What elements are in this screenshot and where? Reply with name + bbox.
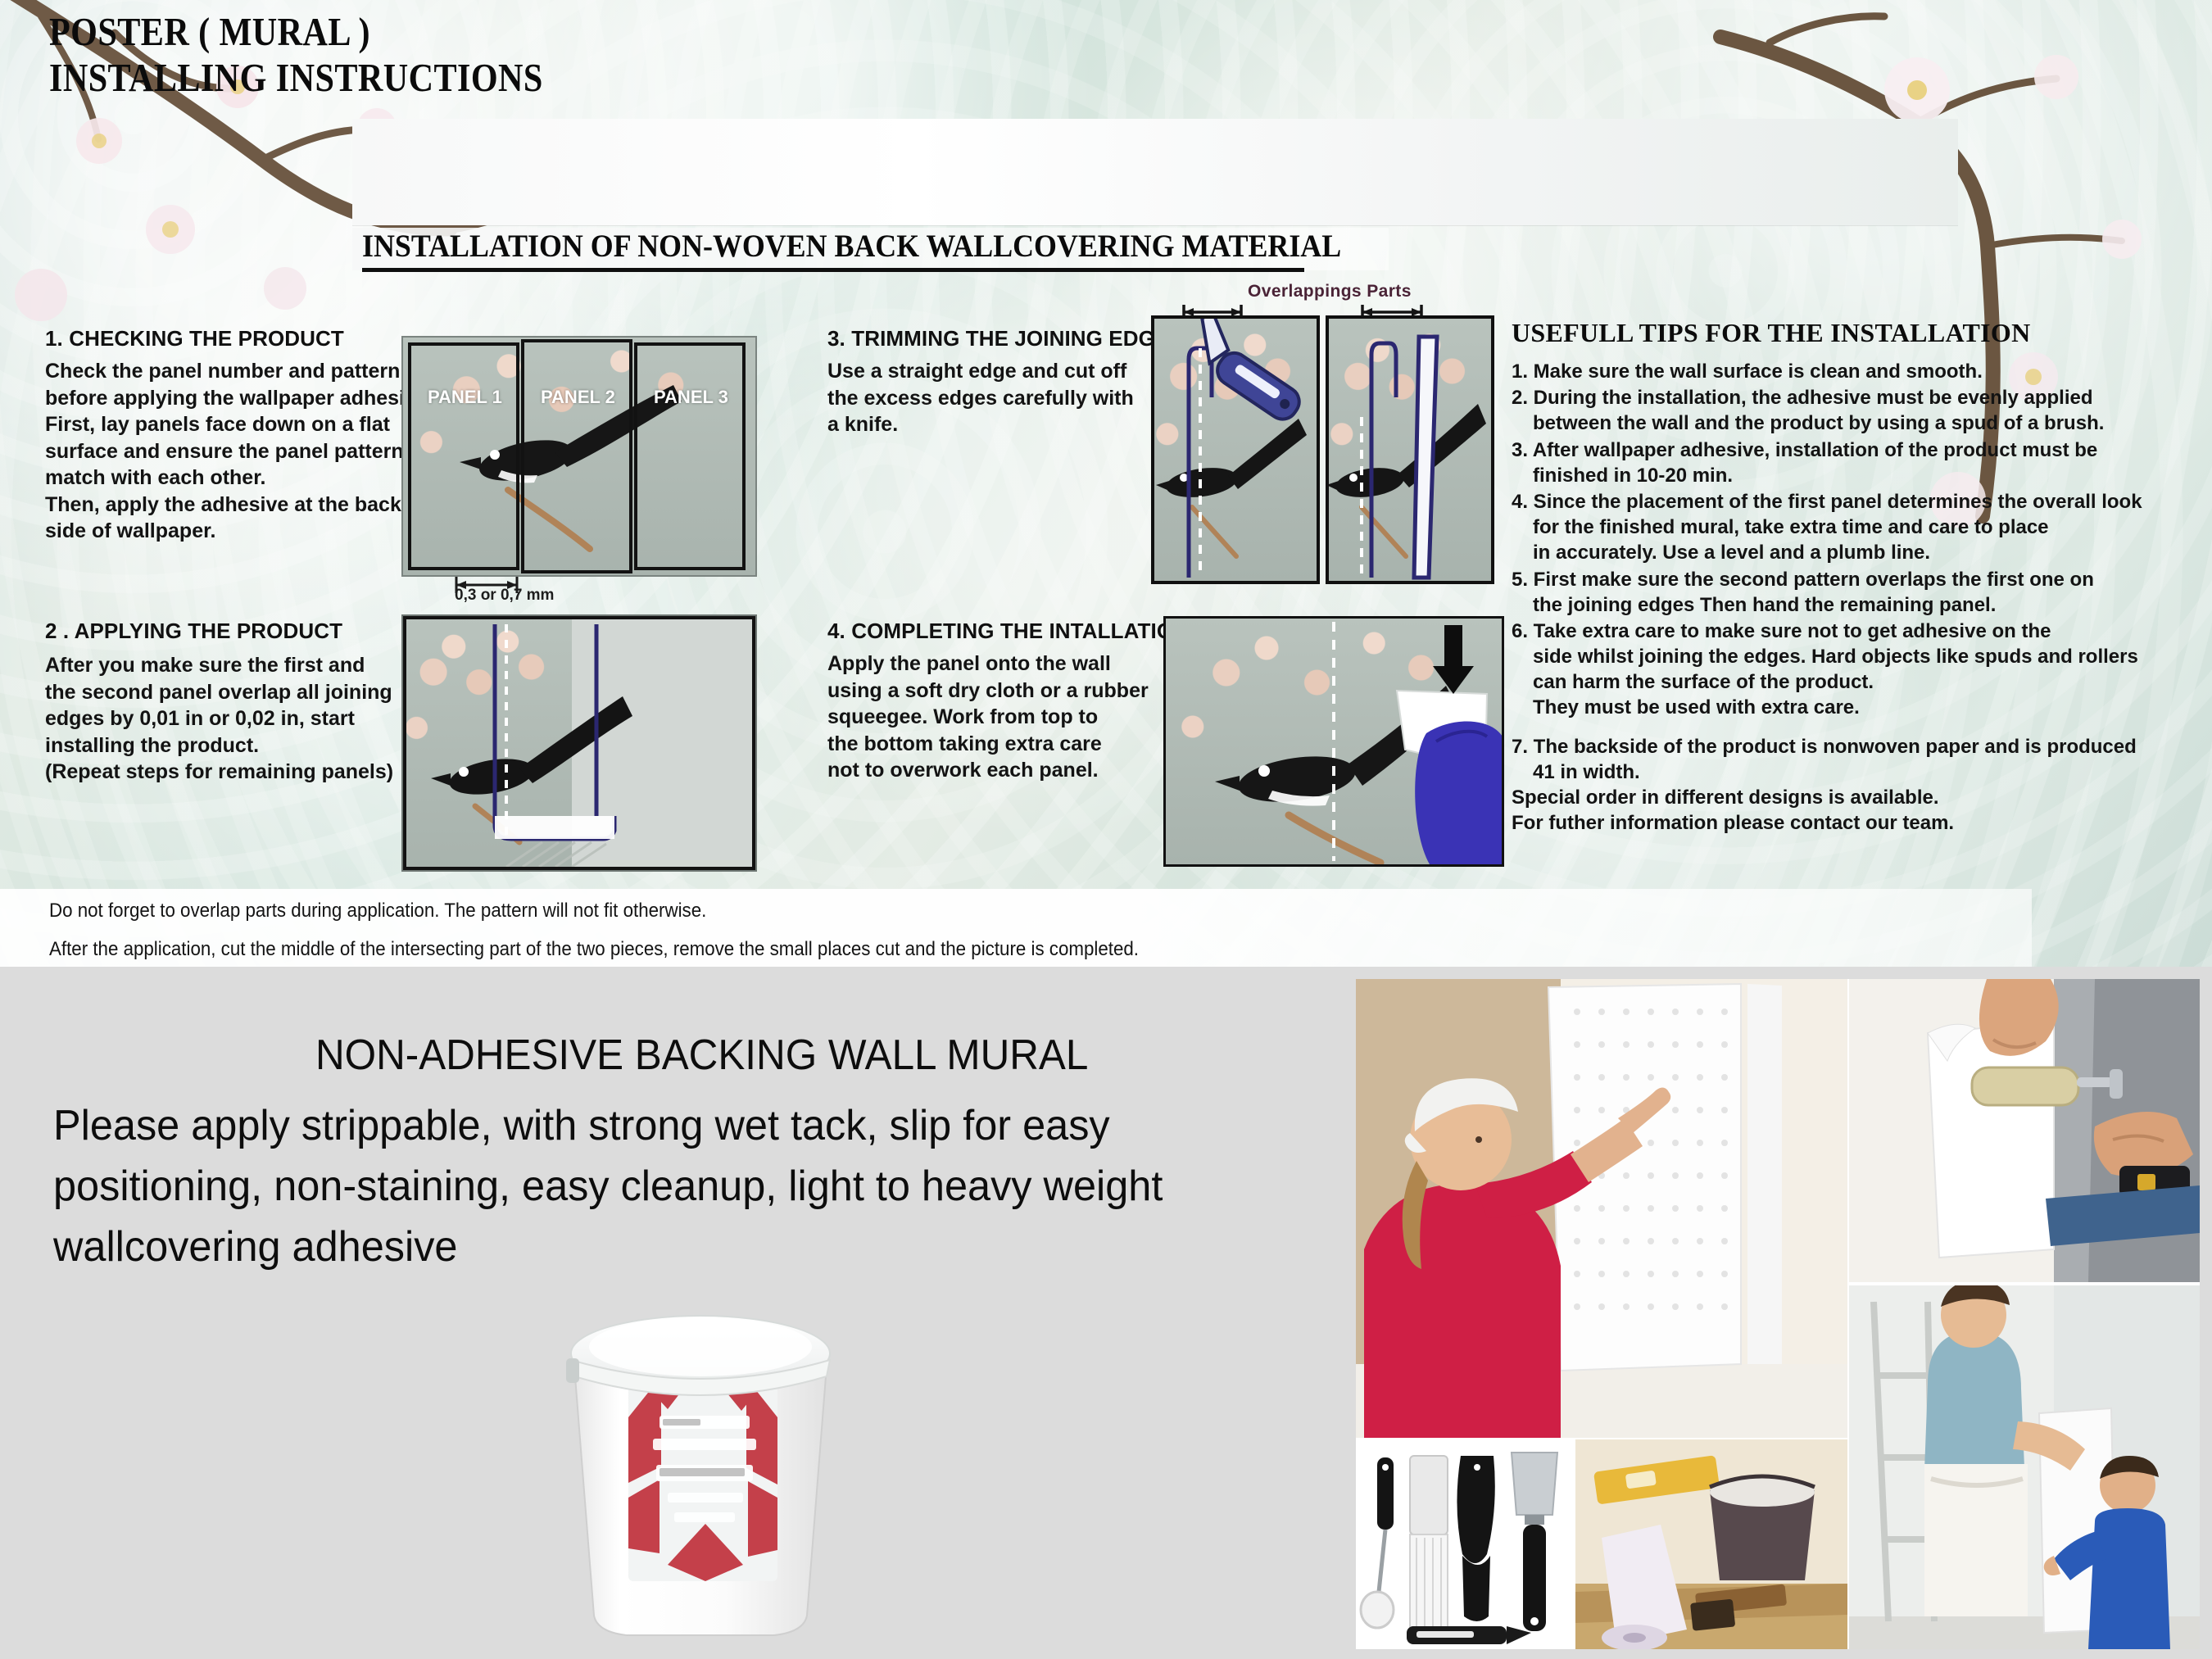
step-2-heading: 2 . APPLYING THE PRODUCT (45, 619, 430, 644)
adhesive-paragraph-line-2: positioning, non-staining, easy cleanup,… (53, 1157, 1293, 1217)
tip-item-3: 3. After wallpaper adhesive, installatio… (1512, 437, 2192, 488)
tip-item-6: 6. Take extra care to make sure not to g… (1512, 619, 2192, 721)
step-3-line-3: a knife. (827, 411, 1172, 438)
step-1-line-3: First, lay panels face down on a flat (45, 411, 430, 438)
tip-item-2: 2. During the installation, the adhesive… (1512, 385, 2192, 436)
step-2-block: 2 . APPLYING THE PRODUCT After you make … (45, 619, 430, 786)
step-2-line-1: After you make sure the first and (45, 652, 430, 679)
step-3-block: 3. TRIMMING THE JOINING EDGES Use a stra… (827, 326, 1172, 438)
step-1-line-2: before applying the wallpaper adhesive. (45, 385, 430, 412)
figure-three-panels: PANEL 1 PANEL 2 PANEL 3 (401, 336, 757, 577)
photo-hands-with-roller (1849, 979, 2200, 1282)
adhesive-heading: NON-ADHESIVE BACKING WALL MURAL (315, 1031, 1088, 1080)
tip-5-line-2: the joining edges Then hand the remainin… (1512, 592, 2192, 618)
tips-heading: USEFULL TIPS FOR THE INSTALLATION (1512, 318, 2192, 348)
adhesive-paragraph-line-1: Please apply strippable, with strong wet… (53, 1096, 1293, 1157)
tip-6-line-3: can harm the surface of the product. (1512, 669, 2192, 695)
step-1-line-7: side of wallpaper. (45, 518, 430, 545)
step-1-line-6: Then, apply the adhesive at the back (45, 492, 430, 519)
tip-2-line-2: between the wall and the product by usin… (1512, 410, 2192, 436)
step-1-body: Check the panel number and pattern befor… (45, 358, 430, 545)
step-4-heading: 4. COMPLETING THE INTALLATION (827, 619, 1172, 644)
trim-right-diagram-icon (1329, 319, 1491, 581)
step-3-line-2: the excess edges carefully with (827, 385, 1172, 412)
step-4-block: 4. COMPLETING THE INTALLATION Apply the … (827, 619, 1172, 784)
step-4-line-1: Apply the panel onto the wall (827, 650, 1172, 678)
tip-4-line-3: in accurately. Use a level and a plumb l… (1512, 540, 2192, 565)
adhesive-paragraph-line-3: wallcovering adhesive (53, 1217, 1293, 1278)
tip-5-line-1: 5. First make sure the second pattern ov… (1512, 567, 2192, 592)
panel-3-frame (634, 342, 746, 570)
tip-7-line-4: For futher information please contact ou… (1512, 810, 2192, 836)
tip-6-line-1: 6. Take extra care to make sure not to g… (1512, 619, 2192, 644)
tip-item-4: 4. Since the placement of the first pane… (1512, 489, 2192, 566)
step-4-line-3: squeegee. Work from top to (827, 704, 1172, 731)
adhesive-bucket-image (537, 1278, 864, 1639)
note-line-1: Do not forget to overlap parts during ap… (49, 900, 706, 922)
tip-7-line-1: 7. The backside of the product is nonwov… (1512, 734, 2192, 759)
tip-4-line-1: 4. Since the placement of the first pane… (1512, 489, 2192, 514)
figure-trimming (1151, 315, 1499, 578)
useful-tips-block: USEFULL TIPS FOR THE INSTALLATION 1. Mak… (1512, 318, 2192, 836)
overlap-diagram-icon (403, 616, 755, 870)
note-line-2: After the application, cut the middle of… (49, 938, 1139, 961)
tip-6-line-4: They must be used with extra care. (1512, 695, 2192, 720)
trim-left-diagram-icon (1154, 319, 1317, 581)
panel-3-label: PANEL 3 (654, 387, 728, 408)
step-2-line-3: edges by 0,01 in or 0,02 in, start (45, 705, 430, 732)
bucket-label (628, 1367, 777, 1581)
tip-6-line-2: side whilst joining the edges. Hard obje… (1512, 644, 2192, 669)
step-3-body: Use a straight edge and cut off the exce… (827, 358, 1172, 438)
step-4-line-5: not to overwork each panel. (827, 757, 1172, 784)
trim-panel-right (1326, 315, 1494, 584)
poster-title-line-1: POSTER ( MURAL ) (49, 8, 370, 55)
tip-item-7: 7. The backside of the product is nonwov… (1512, 734, 2192, 836)
step-1-block: 1. CHECKING THE PRODUCT Check the panel … (45, 326, 430, 545)
step-4-body: Apply the panel onto the wall using a so… (827, 650, 1172, 784)
panel-1-frame (408, 342, 519, 570)
step-1-line-4: surface and ensure the panel patterns (45, 438, 430, 465)
figure-overlap-detail (401, 614, 757, 872)
panel-2-label: PANEL 2 (541, 387, 615, 408)
dimension-label: 0,3 or 0,7 mm (455, 587, 554, 605)
figure-completing (1163, 616, 1504, 867)
title-plate (352, 119, 1958, 225)
tip-3-line-2: finished in 10-20 min. (1512, 463, 2192, 488)
poster-subtitle: INSTALLATION OF NON-WOVEN BACK WALLCOVER… (362, 228, 1304, 272)
adhesive-paragraph: Please apply strippable, with strong wet… (53, 1096, 1293, 1277)
tip-4-line-2: for the finished mural, take extra time … (1512, 514, 2192, 540)
step-1-line-1: Check the panel number and pattern (45, 358, 430, 385)
photo-collage (1356, 979, 2200, 1649)
trim-panel-left (1151, 315, 1320, 584)
step-2-line-4: installing the product. (45, 732, 430, 759)
panel-2-frame (521, 339, 632, 573)
photo-woman-applying-wallpaper (1356, 979, 1847, 1438)
photo-father-and-son (1849, 1285, 2200, 1649)
panel-1-label: PANEL 1 (428, 387, 502, 408)
step-1-heading: 1. CHECKING THE PRODUCT (45, 326, 430, 351)
tip-7-line-2: 41 in width. (1512, 759, 2192, 785)
tip-3-line-1: 3. After wallpaper adhesive, installatio… (1512, 437, 2192, 463)
poster-title-line-2: INSTALLING INSTRUCTIONS (49, 54, 543, 101)
step-4-line-2: using a soft dry cloth or a rubber (827, 678, 1172, 705)
step-2-line-2: the second panel overlap all joining (45, 679, 430, 706)
tip-1-line-1: 1. Make sure the wall surface is clean a… (1512, 359, 2192, 384)
tip-item-1: 1. Make sure the wall surface is clean a… (1512, 359, 2192, 384)
step-3-heading: 3. TRIMMING THE JOINING EDGES (827, 326, 1172, 351)
overlapping-parts-caption: Overlappings Parts (1248, 282, 1412, 301)
step-1-line-5: match with each other. (45, 465, 430, 492)
tip-2-line-1: 2. During the installation, the adhesive… (1512, 385, 2192, 410)
tip-7-line-3: Special order in different designs is av… (1512, 785, 2192, 810)
step-3-line-1: Use a straight edge and cut off (827, 358, 1172, 385)
photo-tool-set (1356, 1439, 1847, 1649)
step-2-line-5: (Repeat steps for remaining panels) (45, 759, 430, 786)
step-2-body: After you make sure the first and the se… (45, 652, 430, 786)
instruction-sheet: POSTER ( MURAL ) INSTALLING INSTRUCTIONS… (0, 0, 2212, 967)
step-4-line-4: the bottom taking extra care (827, 731, 1172, 758)
adhesive-section: NON-ADHESIVE BACKING WALL MURAL Please a… (0, 967, 2212, 1659)
tip-item-5: 5. First make sure the second pattern ov… (1512, 567, 2192, 618)
gloved-hand-diagram-icon (1166, 619, 1502, 864)
